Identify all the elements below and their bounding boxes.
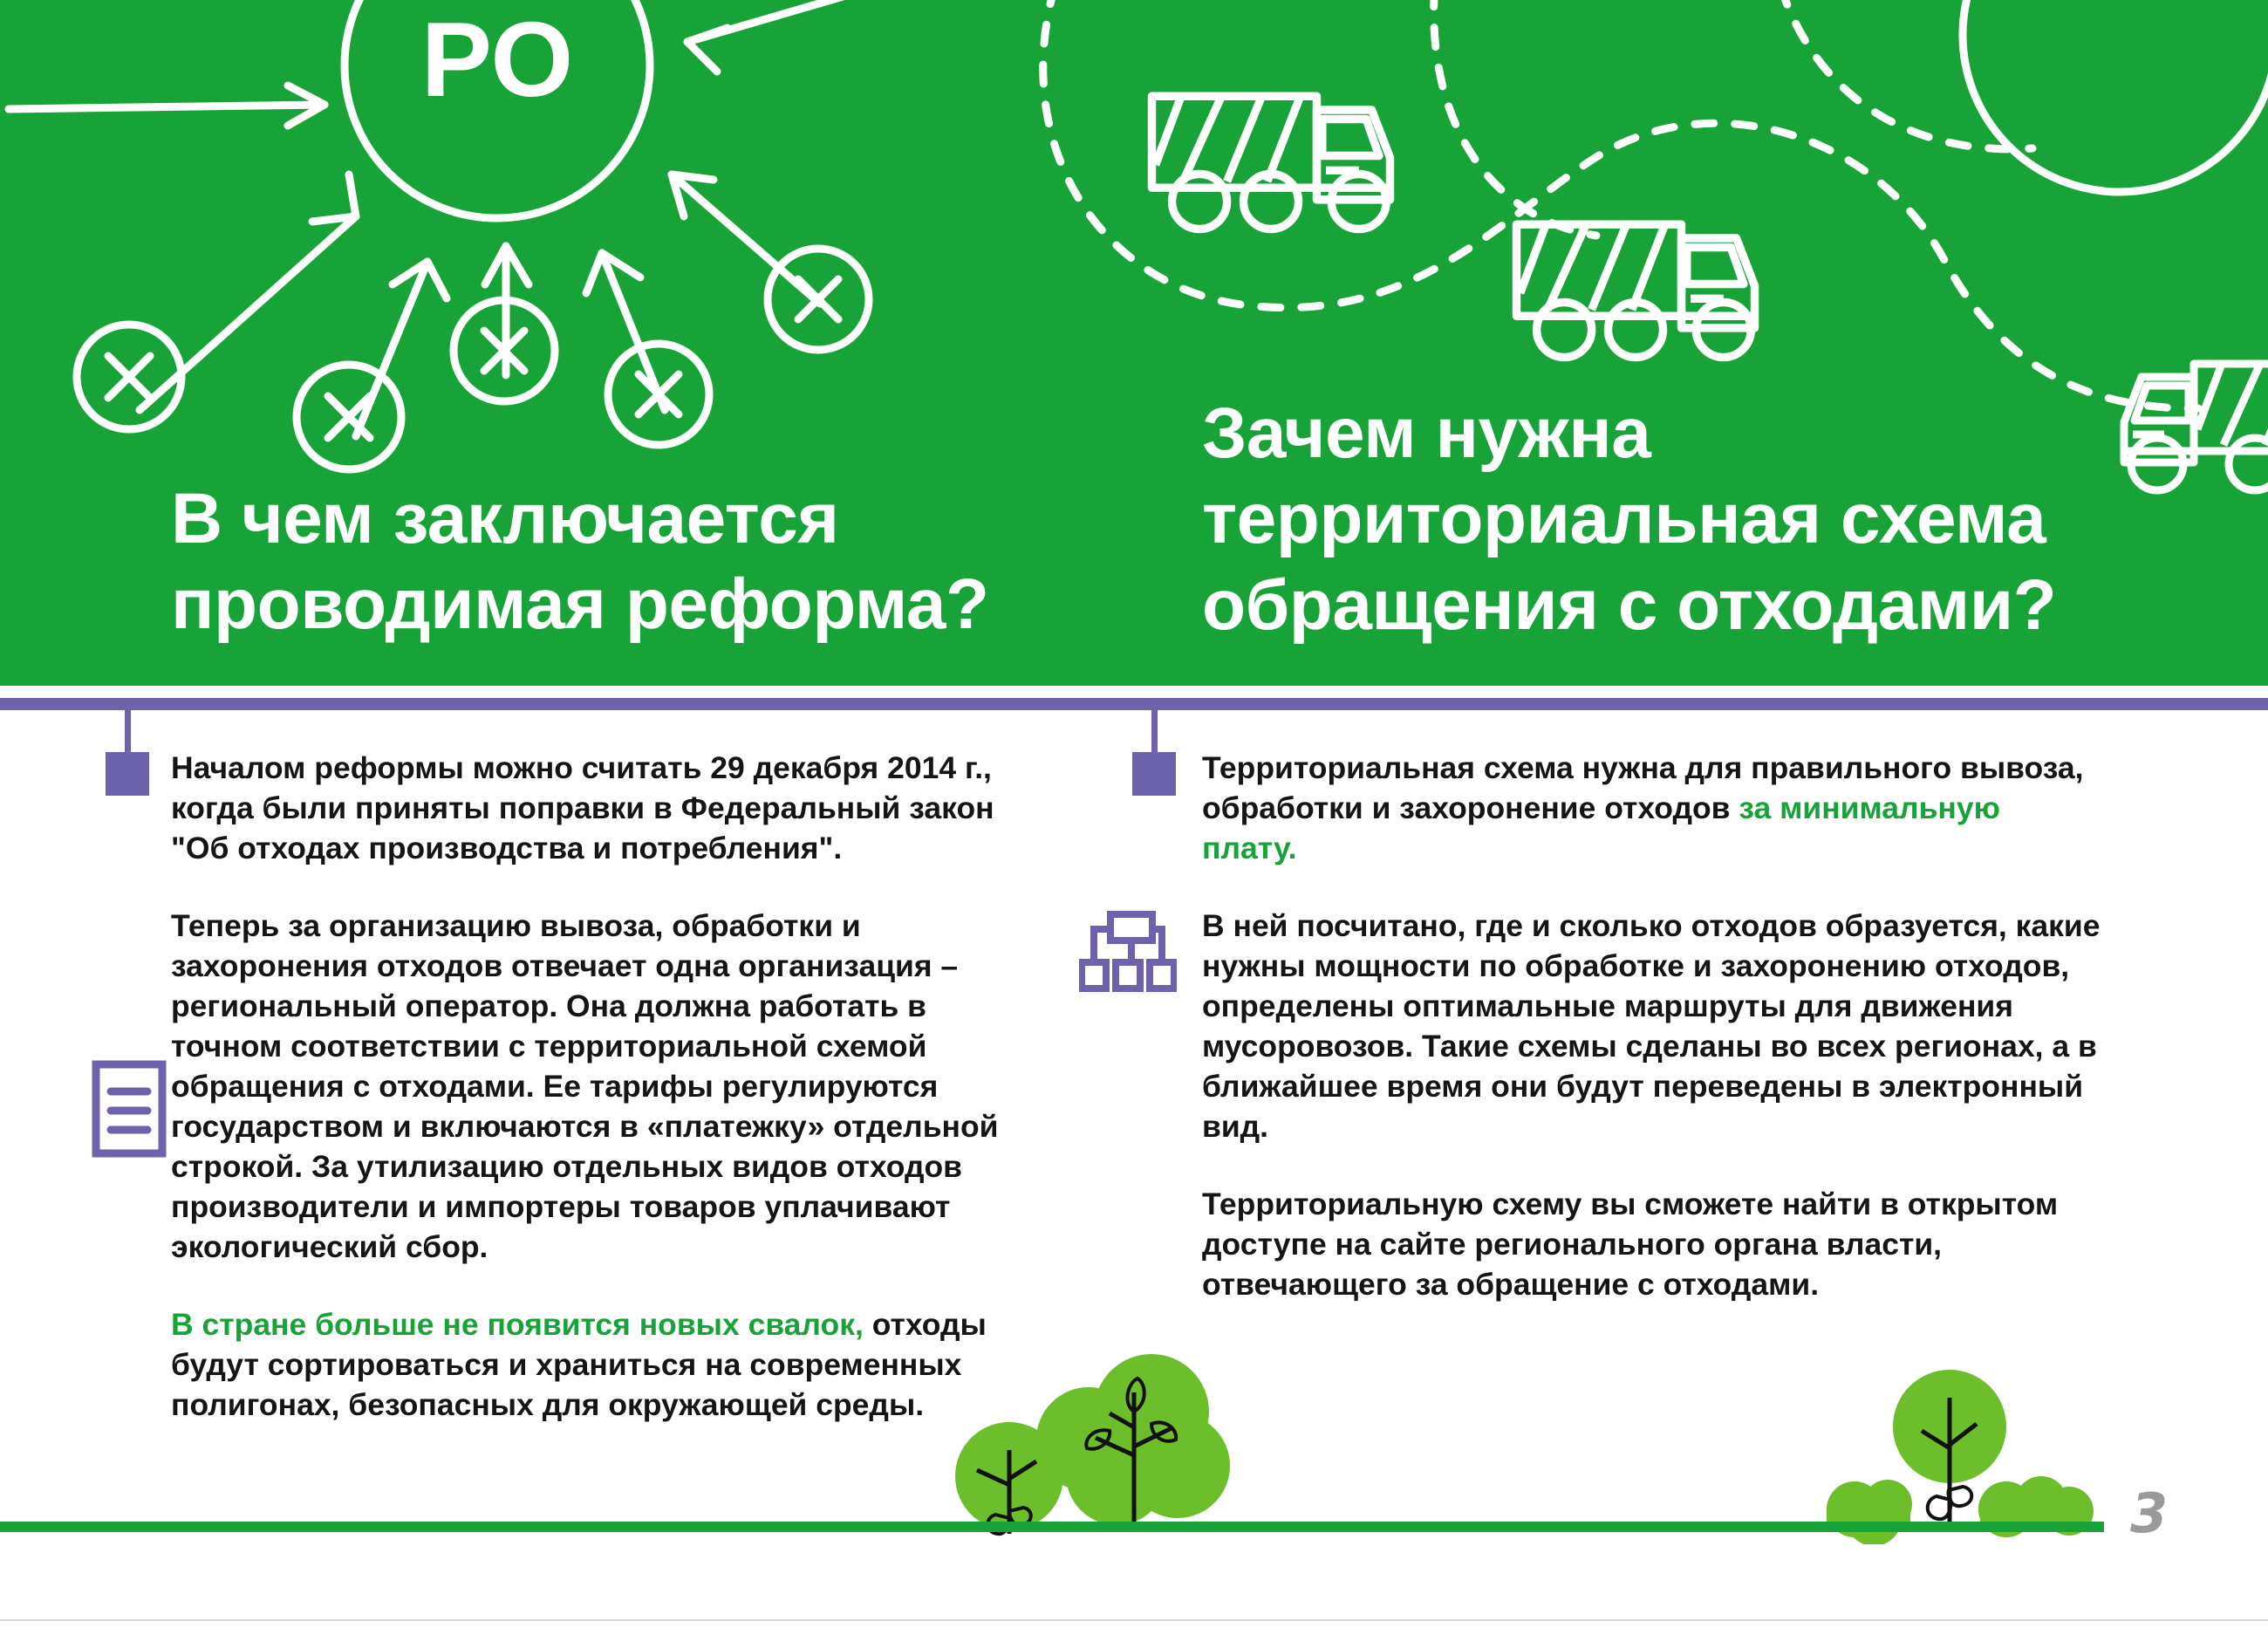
bottom-scene (0, 1344, 2268, 1544)
square-bullet-left (106, 752, 149, 796)
paragraph-regional-operator: Теперь за организацию вывоза, обработки … (171, 906, 1035, 1268)
paragraph-where-to-find: Территориальную схему вы сможете найти в… (1202, 1185, 2101, 1305)
document-lines-icon (92, 1060, 167, 1158)
page-number: 3 (2130, 1481, 2168, 1545)
ground-line (0, 1522, 2104, 1532)
highlight-no-new-dumps: В стране больше не появится новых свалок… (171, 1307, 864, 1342)
tree-icon (1036, 1354, 1230, 1525)
timeline-rule (0, 698, 2268, 710)
paragraph-what-is-counted: В ней посчитано, где и сколько отходов о… (1202, 906, 2101, 1147)
right-headline: Зачем нужна территориальная схема обраще… (1202, 391, 2056, 648)
paragraph-reform-start: Началом реформы можно считать 29 декабря… (171, 749, 1035, 869)
right-column: Территориальная схема нужна для правильн… (1202, 749, 2101, 1305)
timeline-drop-left (125, 710, 131, 752)
bush-icon-left (1827, 1480, 1912, 1544)
hierarchy-tree-icon (1079, 910, 1177, 995)
paragraph-why-scheme: Территориальная схема нужна для правильн… (1202, 749, 2101, 869)
ro-hub-label: РО (421, 0, 574, 119)
timeline-drop-right (1151, 710, 1158, 752)
left-headline: В чем заключается проводимая реформа? (171, 476, 989, 648)
hero-banner: РО В чем заключается проводимая реформа?… (0, 0, 2268, 686)
footer-divider (0, 1619, 2268, 1621)
dashed-route-path (1043, 0, 2198, 408)
square-bullet-right (1132, 752, 1176, 796)
left-column: Началом реформы можно считать 29 декабря… (171, 749, 1035, 1426)
